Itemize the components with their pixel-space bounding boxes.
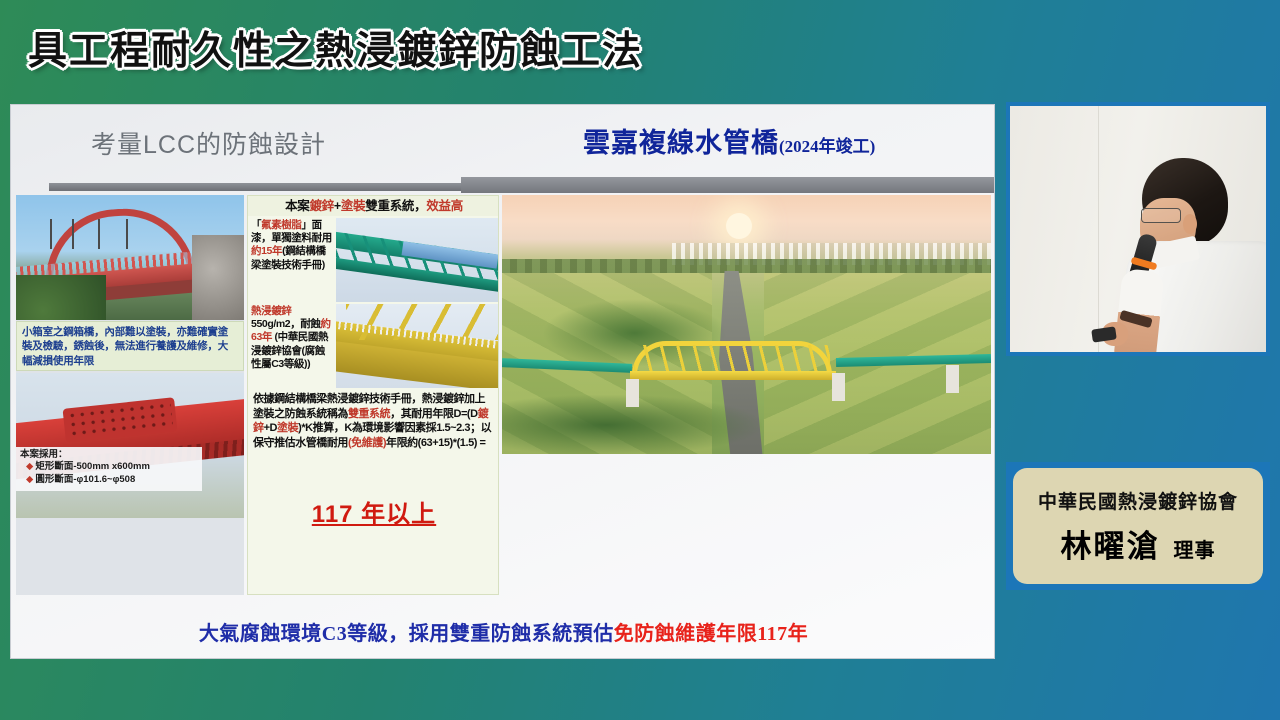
slide-body: 小箱室之鋼箱橋，內部難以塗裝，亦難確實塗裝及檢驗，銹蝕後，無法進行養護及維修，大… [11,195,995,610]
fluoropolymer-text: 「氟素樹脂」面漆，單獨塗料耐用約15年(鋼結構橋梁塗裝技術手冊) [250,218,334,302]
spec-item: ◆矩形斷面-500mm x600mm [20,461,198,473]
paragraph-maintenance-free: (免維護) [348,437,386,449]
divider-bar-left [49,183,461,191]
slide-heading-right-main: 雲嘉複線水管橋 [583,128,779,158]
galvanizing-text: 熱浸鍍鋅550g/m2，耐蝕約63年 (中華民國熱浸鍍鋅協會(腐蝕性屬C3等級)… [250,304,334,388]
speaker-ear-shape [1183,214,1197,234]
spec-item: ◆圓形斷面-φ101.6~φ508 [20,474,198,486]
treeline-shape [502,259,991,273]
header-part-galvanizing: 鍍鋅 [309,199,333,213]
wall-seam-shape [1098,106,1099,352]
text-open-quote: 「 [251,219,261,231]
header-part-a: 本案 [285,199,309,213]
slide-heading-right: 雲嘉複線水管橋(2024年竣工) [583,121,875,160]
red-arch-bridge-photo [16,195,244,320]
bridge-pier-shape [626,379,639,407]
header-part-plus: + [334,199,341,213]
paragraph-part-e: +D [264,422,277,434]
speaker-video-panel[interactable] [1006,102,1270,356]
stone-abutment-shape [192,235,244,320]
slide-heading-right-note: (2024年竣工) [779,137,875,156]
middle-row-galvanizing: 熱浸鍍鋅550g/m2，耐蝕約63年 (中華民國熱浸鍍鋅協會(腐蝕性屬C3等級)… [248,304,499,388]
section-spec-box: 本案採用： ◆矩形斷面-500mm x600mm ◆圓形斷面-φ101.6~φ5… [16,447,202,491]
lamp-pole-icon [126,219,128,249]
middle-row-fluoropolymer: 「氟素樹脂」面漆，單獨塗料耐用約15年(鋼結構橋梁塗裝技術手冊) [248,218,499,302]
title-banner: 具工程耐久性之熱浸鍍鋅防蝕工法 [0,0,1010,100]
paragraph-part-c: ，其耐用年限D=(D [390,408,477,420]
paragraph-part-i: 年限約(63+15)*(1.5) = [386,437,486,449]
slide-heading-left: 考量LCC的防蝕設計 [91,125,326,161]
durability-result: 117 年以上 [248,494,499,529]
vegetation-shape [16,275,106,320]
slide-divider-row [11,183,994,195]
slide-conclusion-text: 大氣腐蝕環境C3等級，採用雙重防蝕系統預估免防蝕維護年限117年 [11,617,995,646]
text-fluoropolymer: 氟素樹脂 [261,219,301,231]
yellow-arch-water-pipe-bridge-aerial-photo [502,195,991,454]
red-steel-girder-photo [16,373,244,518]
diamond-bullet-icon: ◆ [26,474,33,485]
green-truss-bridge-photo [336,218,498,302]
middle-column-header: 本案鍍鋅+塗裝雙重系統，效益高 [248,196,499,216]
text-hot-dip-galv: 熱浸鍍鋅 [251,305,291,317]
lamp-pole-icon [50,219,52,249]
conclusion-part-a: 大氣腐蝕環境C3等級，採用雙重防蝕系統預估 [199,623,614,645]
lamp-pole-icon [98,219,100,249]
durability-paragraph: 依據鋼結構橋梁熱浸鍍鋅技術手冊，熱浸鍍鋅加上塗裝之防蝕系統稱為雙重系統，其耐用年… [250,390,498,498]
divider-bar-right [461,177,995,193]
bridge-pier-shape [946,365,959,393]
name-card-inner: 中華民國熱浸鍍鋅協會 林曜滄 理事 [1013,468,1263,584]
presentation-slide: 考量LCC的防蝕設計 雲嘉複線水管橋(2024年竣工) 小箱室之鋼箱橋，內 [10,104,995,659]
speaker-identity-row: 林曜滄 理事 [1061,521,1216,566]
header-part-benefit: 效益高 [426,199,463,213]
speaker-name: 林曜滄 [1061,521,1160,566]
conclusion-highlight: 免防蝕維護年限117年 [614,623,808,645]
middle-content-column: 本案鍍鋅+塗裝雙重系統，效益高 「氟素樹脂」面漆，單獨塗料耐用約15年(鋼結構橋… [247,195,499,595]
glasses-icon [1141,208,1181,223]
header-part-system: 雙重系統， [365,199,426,213]
lamp-pole-icon [72,219,74,249]
speaker-live-video[interactable] [1010,106,1266,352]
left-photo-column: 小箱室之鋼箱橋，內部難以塗裝，亦難確實塗裝及檢驗，銹蝕後，無法進行養護及維修，大… [16,195,244,595]
paragraph-coating-term: 塗裝 [277,422,298,434]
spec-title: 本案採用： [20,449,198,461]
sun-shape [726,213,752,239]
page-title: 具工程耐久性之熱浸鍍鋅防蝕工法 [28,32,643,71]
text-15-years: 約15年 [251,245,282,257]
speaker-association: 中華民國熱浸鍍鋅協會 [1038,487,1238,514]
spec-item-label: 圓形斷面-φ101.6~φ508 [35,474,135,485]
text-coating-weight: 550g/m2，耐蝕 [251,318,321,330]
header-part-coating: 塗裝 [341,199,365,213]
yellow-deck-span-shape [630,371,836,380]
speaker-title: 理事 [1174,534,1216,563]
diamond-bullet-icon: ◆ [26,461,33,472]
speaker-name-card: 中華民國熱浸鍍鋅協會 林曜滄 理事 [1006,462,1270,590]
bridge-pier-shape [832,373,845,401]
slide-heading-row: 考量LCC的防蝕設計 雲嘉複線水管橋(2024年竣工) [11,105,994,183]
yellow-truss-bridge-photo [336,304,498,388]
spec-item-label: 矩形斷面-500mm x600mm [35,461,150,472]
paragraph-duplex-system: 雙重系統 [348,408,390,420]
left-photo-caption: 小箱室之鋼箱橋，內部難以塗裝，亦難確實塗裝及檢驗，銹蝕後，無法進行養護及維修，大… [16,321,244,371]
